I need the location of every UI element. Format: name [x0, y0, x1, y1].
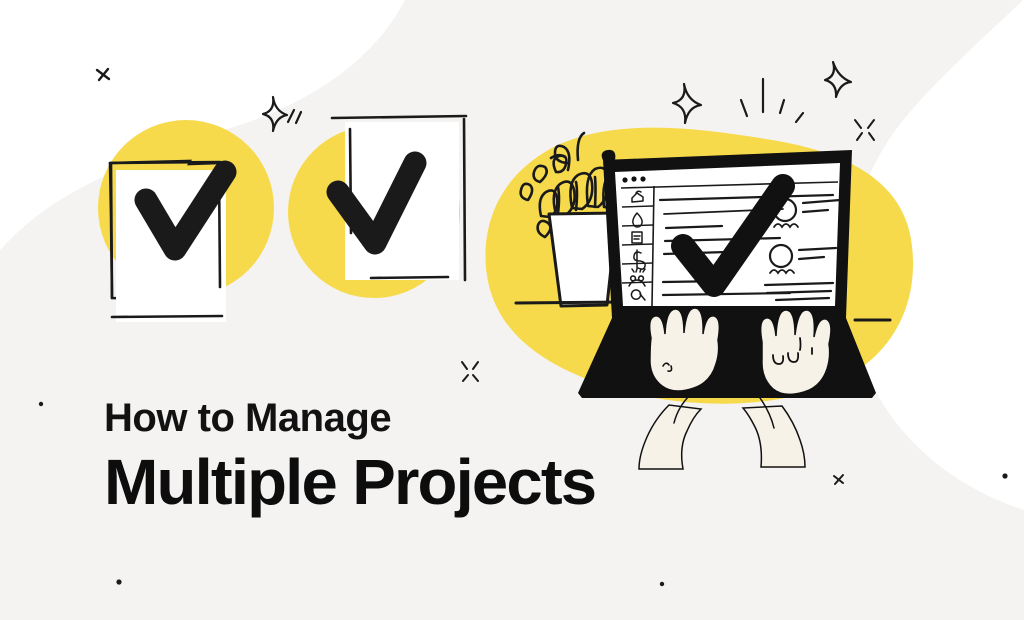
sparkle-dash-1	[288, 110, 294, 122]
x-mark-4	[834, 475, 843, 484]
x-mark-1	[855, 120, 874, 140]
poster-canvas: How to Manage Multiple Projects	[0, 0, 1024, 620]
sparkle-star-1	[263, 97, 287, 131]
burst-line-right	[780, 100, 784, 113]
burst-line-far-right	[796, 113, 803, 122]
dot-1	[116, 579, 121, 584]
x-mark-3	[97, 69, 109, 80]
x-mark-2	[462, 362, 478, 381]
decorations	[0, 0, 1024, 620]
dot-4	[39, 402, 43, 406]
sparkle-dash-2	[296, 112, 301, 123]
sparkle-star-2	[673, 84, 701, 123]
page-title: Multiple Projects	[104, 450, 757, 514]
dot-3	[660, 582, 664, 586]
sparkle-star-3	[825, 62, 851, 97]
kicker-text: How to Manage	[104, 398, 744, 438]
dot-2	[1002, 473, 1007, 478]
headline-block: How to Manage Multiple Projects	[104, 398, 744, 514]
burst-line-left	[741, 100, 747, 116]
